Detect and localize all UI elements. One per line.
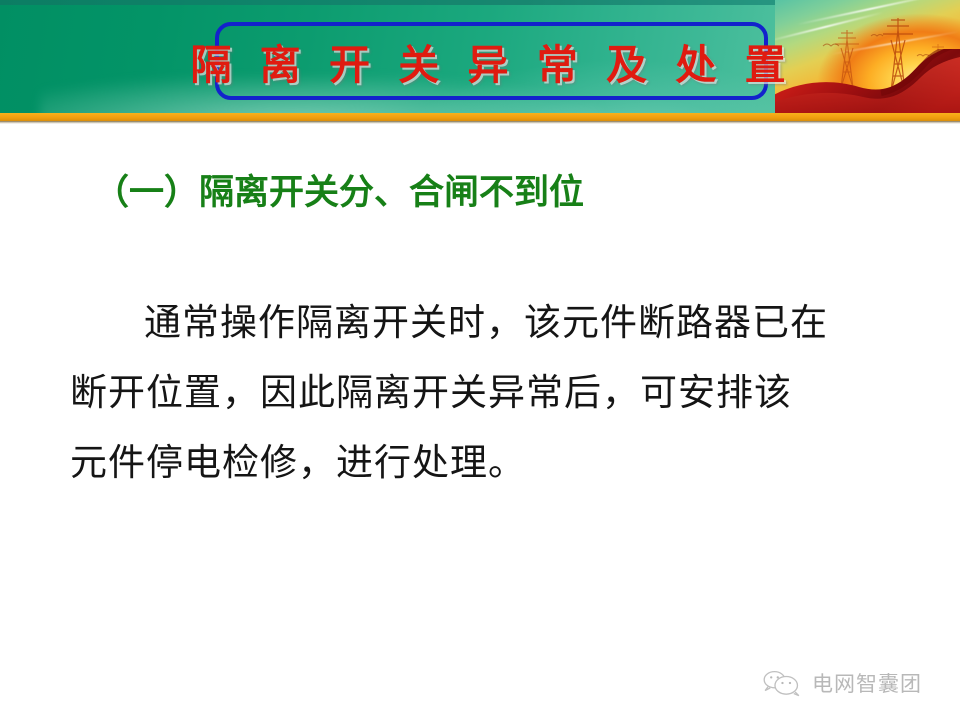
slide-title-box: 隔 离 开 关 异 常 及 处 置 [215,22,768,100]
slide-header-banner: 隔 离 开 关 异 常 及 处 置 [0,0,960,123]
body-line: 断开位置，因此隔离开关异常后，可安排该 [70,358,910,428]
body-line: 通常操作隔离开关时，该元件断路器已在 [70,288,910,358]
watermark-label: 电网智囊团 [812,668,922,698]
slide-canvas: 隔 离 开 关 异 常 及 处 置 （一）隔离开关分、合闸不到位 通常操作隔离开… [0,0,960,720]
header-artwork [775,0,960,113]
body-line: 元件停电检修，进行处理。 [70,428,910,498]
slide-content: （一）隔离开关分、合闸不到位 通常操作隔离开关时，该元件断路器已在 断开位置，因… [0,123,960,720]
body-paragraph: 通常操作隔离开关时，该元件断路器已在 断开位置，因此隔离开关异常后，可安排该 元… [70,288,910,498]
slide-title: 隔 离 开 关 异 常 及 处 置 [190,31,792,91]
watermark: 电网智囊团 [761,668,922,698]
wechat-icon [761,668,803,698]
red-ribbon-decoration [775,49,960,113]
section-heading: （一）隔离开关分、合闸不到位 [94,171,584,215]
header-gold-bar [0,113,960,121]
